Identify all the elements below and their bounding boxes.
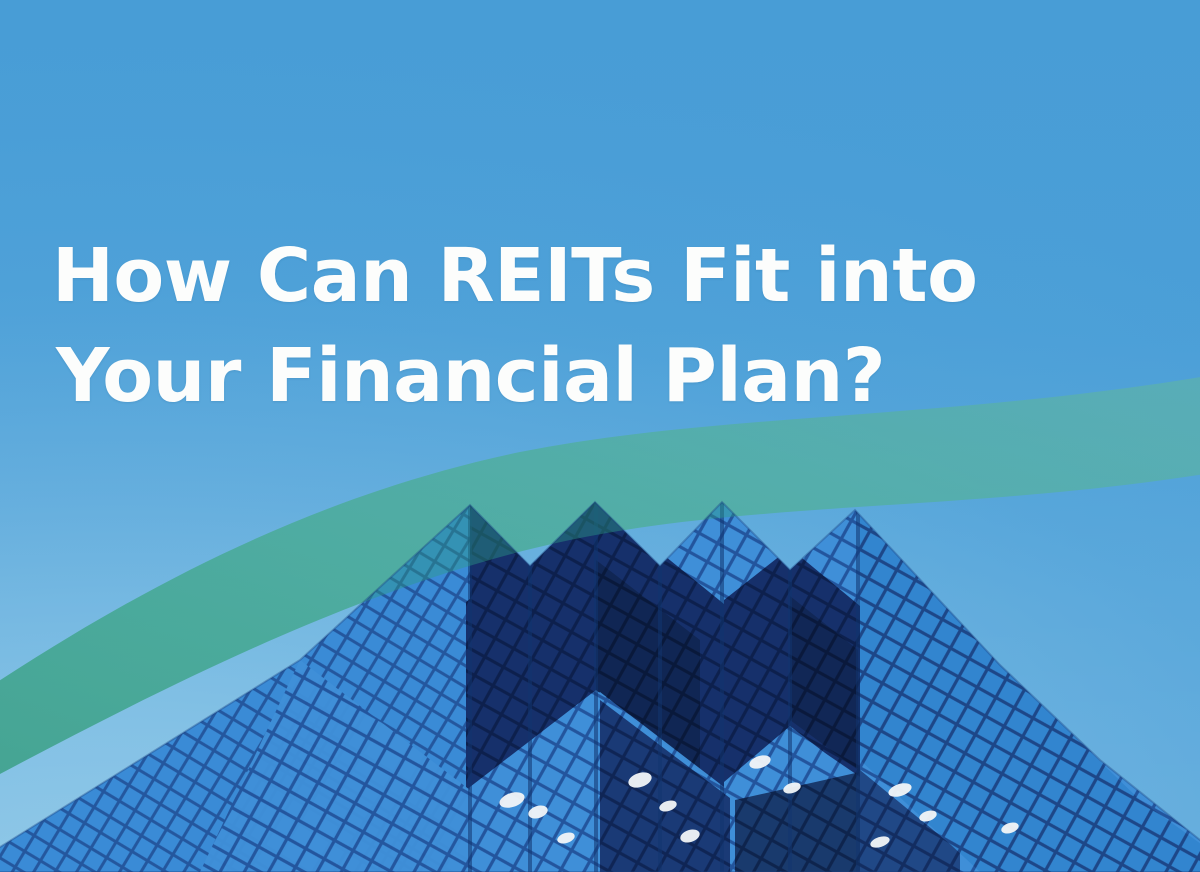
page-title: How Can REITs Fit into Your Financial Pl… [52,226,1142,427]
headline-line-1: How Can REITs Fit into [52,226,1142,327]
hero-banner: How Can REITs Fit into Your Financial Pl… [0,0,1200,872]
glass-office-tower [0,0,1200,872]
headline-line-2: Your Financial Plan? [52,326,1142,427]
tower-body [0,372,1200,872]
